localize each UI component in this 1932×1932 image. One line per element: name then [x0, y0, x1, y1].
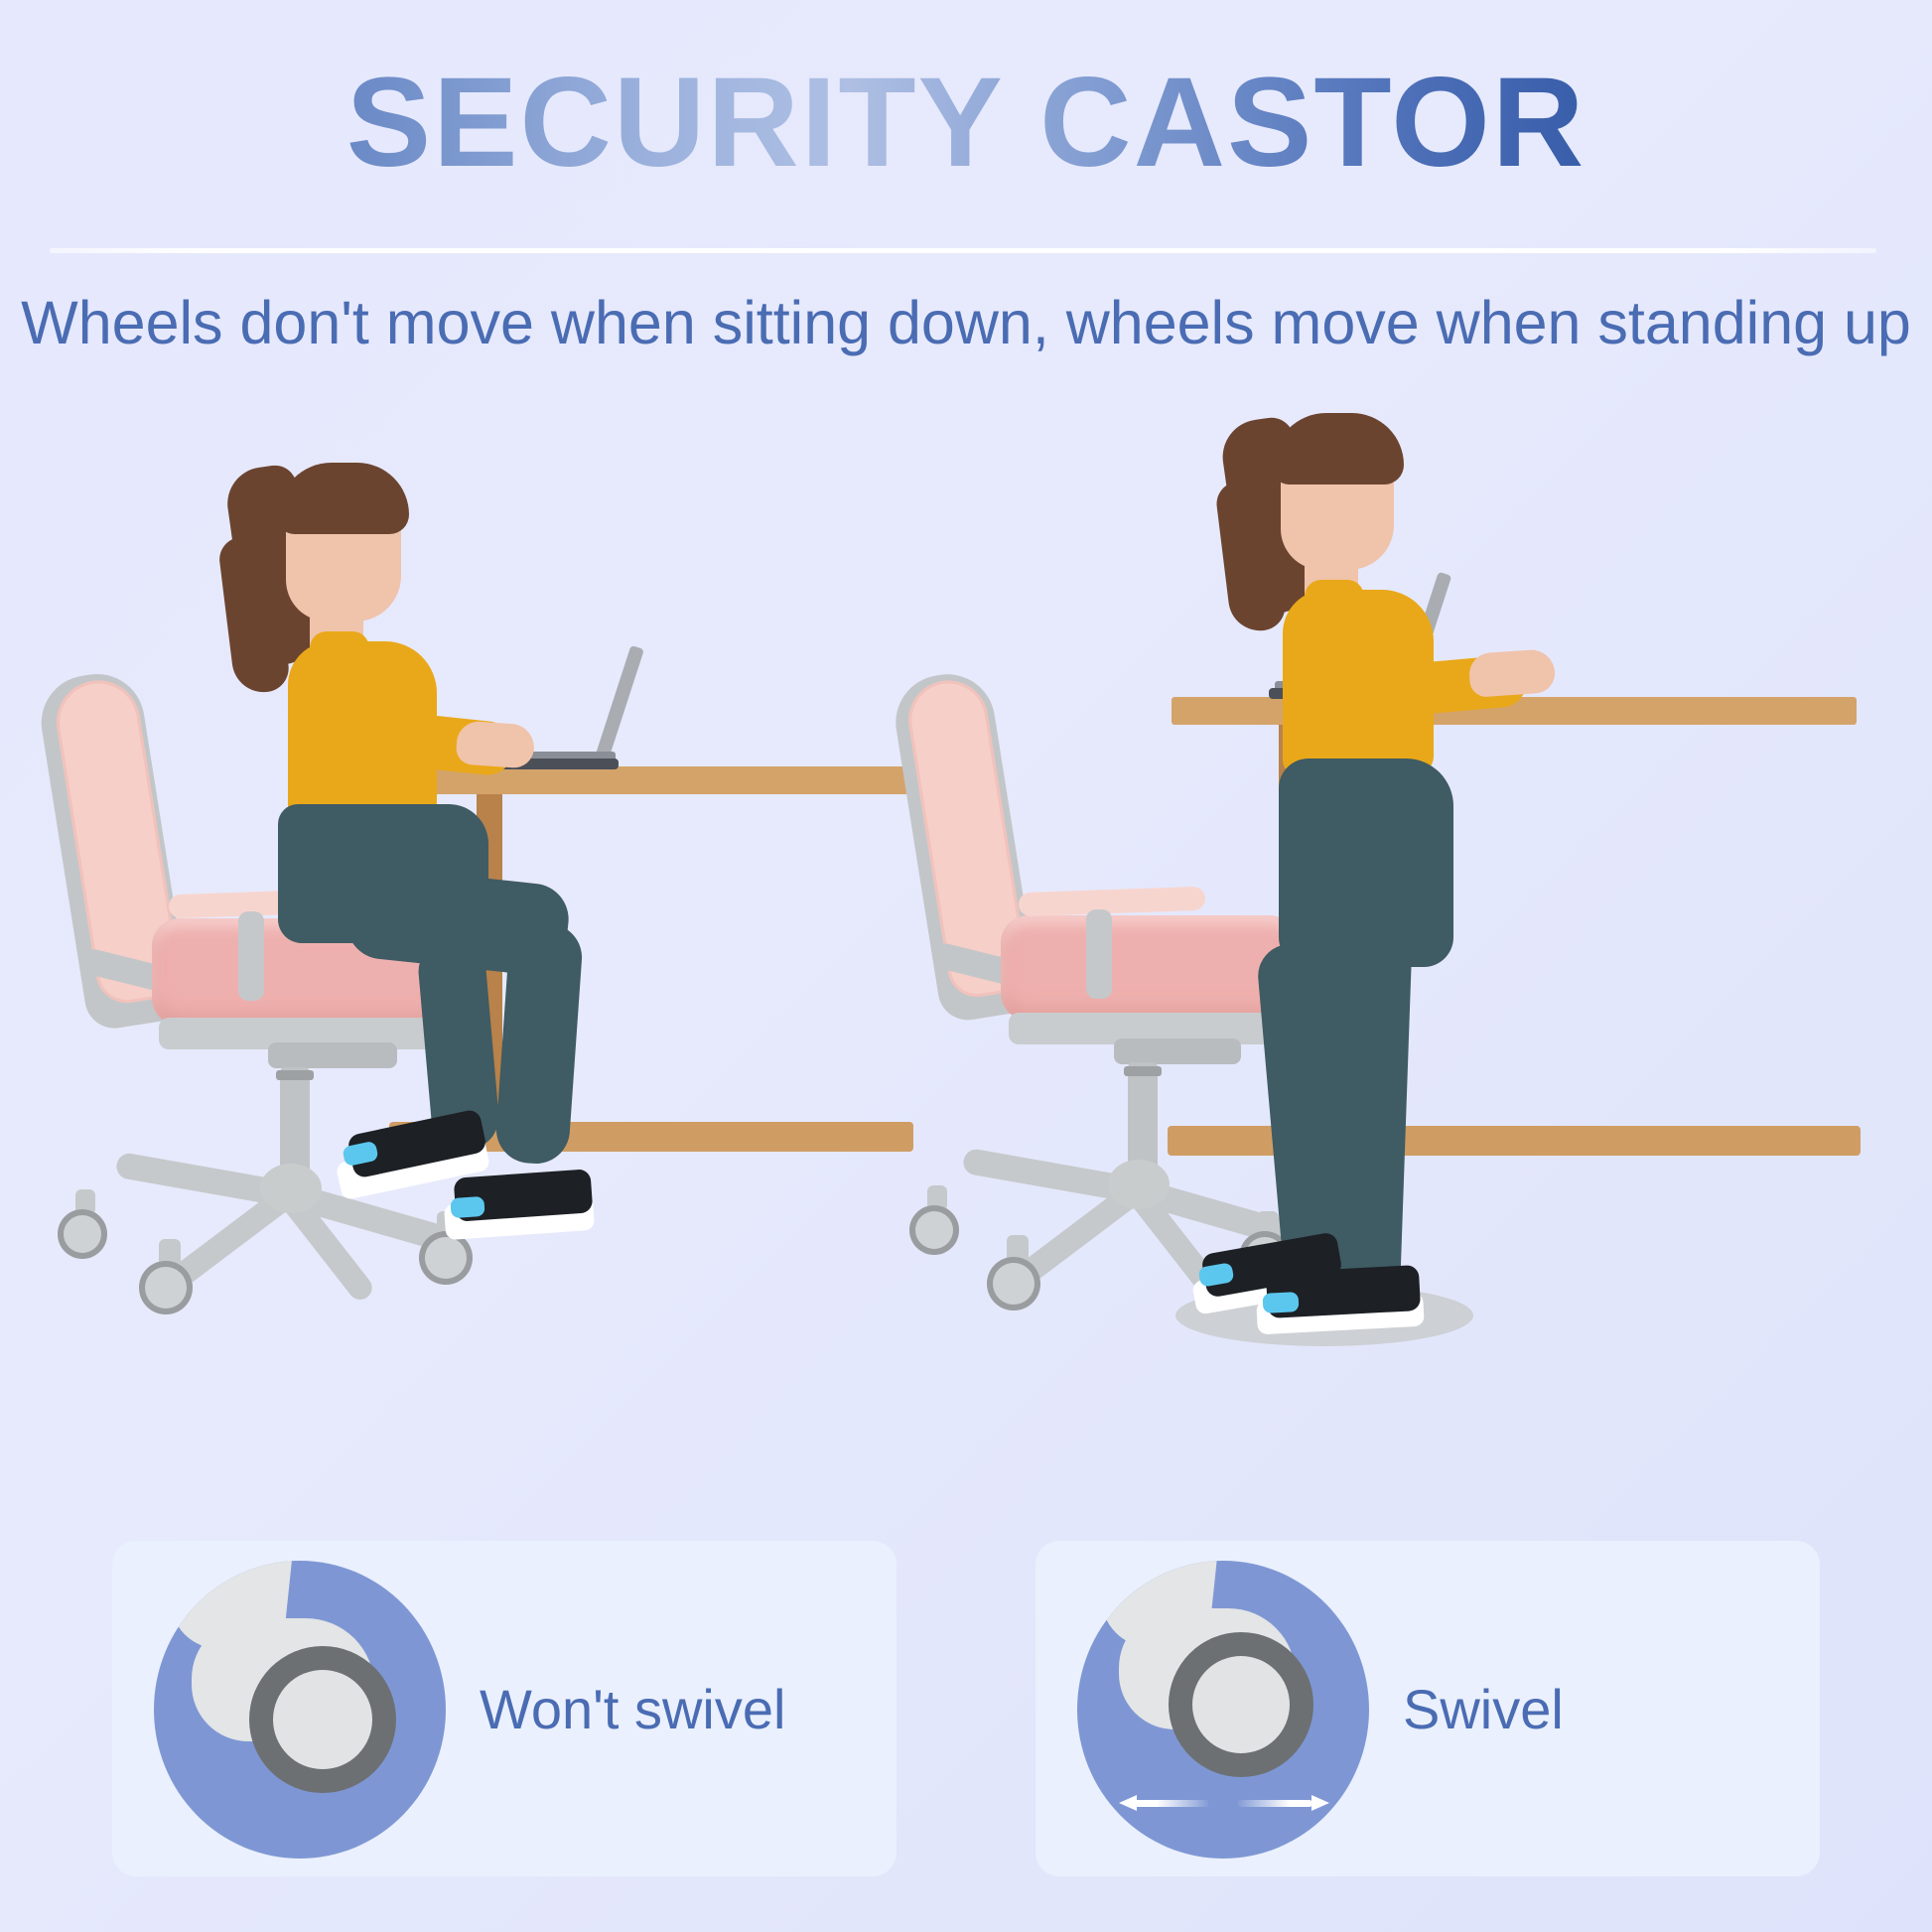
- person-hand-right: [1468, 648, 1557, 698]
- card-swivel[interactable]: Swivel: [1035, 1541, 1820, 1876]
- shoe-accent-left-2: [450, 1196, 484, 1218]
- illustration-sitting: [40, 427, 913, 1499]
- caster-wheel-left-2: [139, 1261, 193, 1314]
- person-collar-left: [310, 631, 369, 665]
- chair-cylinder-ring-left: [276, 1070, 314, 1080]
- header-divider: [50, 248, 1876, 253]
- person-hand-left: [456, 720, 536, 768]
- caster-wheel-right-2: [987, 1257, 1040, 1311]
- caster-illustration-swivel: [1077, 1561, 1369, 1859]
- person-hair-top-left: [278, 463, 409, 534]
- card-wont-swivel[interactable]: Won't swivel: [112, 1541, 897, 1876]
- caster-illustration-wont-swivel: [154, 1561, 446, 1859]
- chair-cylinder-ring-right: [1124, 1066, 1162, 1076]
- chair-mechanism-right: [1114, 1038, 1241, 1064]
- card-label-wont-swivel: Won't swivel: [480, 1541, 785, 1876]
- laptop-screen-left: [593, 645, 644, 768]
- infographic-page: SECURITY CASTOR Wheels don't move when s…: [0, 0, 1932, 1932]
- caster-hub-icon-2: [1192, 1656, 1290, 1753]
- caster-wheel-left-1: [58, 1209, 107, 1259]
- chair-base-hub-right: [1108, 1160, 1170, 1209]
- chair-armrest-pad-right: [1019, 887, 1206, 917]
- person-hair-top-right: [1273, 413, 1404, 484]
- arrow-right-icon: [1238, 1795, 1329, 1811]
- page-title: SECURITY CASTOR: [0, 60, 1932, 187]
- chair-base-hub-left: [260, 1164, 322, 1213]
- card-label-swivel: Swivel: [1403, 1541, 1564, 1876]
- chair-mechanism-left: [268, 1042, 397, 1068]
- chair-seat-cushion-right: [1001, 915, 1297, 1021]
- arrow-left-icon: [1119, 1795, 1210, 1811]
- chair-armrest-post-left: [238, 911, 264, 1001]
- shoe-accent-right-2: [1263, 1292, 1300, 1313]
- page-subtitle: Wheels don't move when sitting down, whe…: [0, 288, 1932, 357]
- illustration-standing: [933, 427, 1906, 1499]
- chair-armrest-post-right: [1086, 909, 1112, 999]
- caster-wheel-left-3: [419, 1231, 473, 1285]
- caster-hub-icon-1: [273, 1670, 372, 1769]
- person-collar-right: [1305, 580, 1364, 614]
- caster-wheel-right-1: [909, 1205, 959, 1255]
